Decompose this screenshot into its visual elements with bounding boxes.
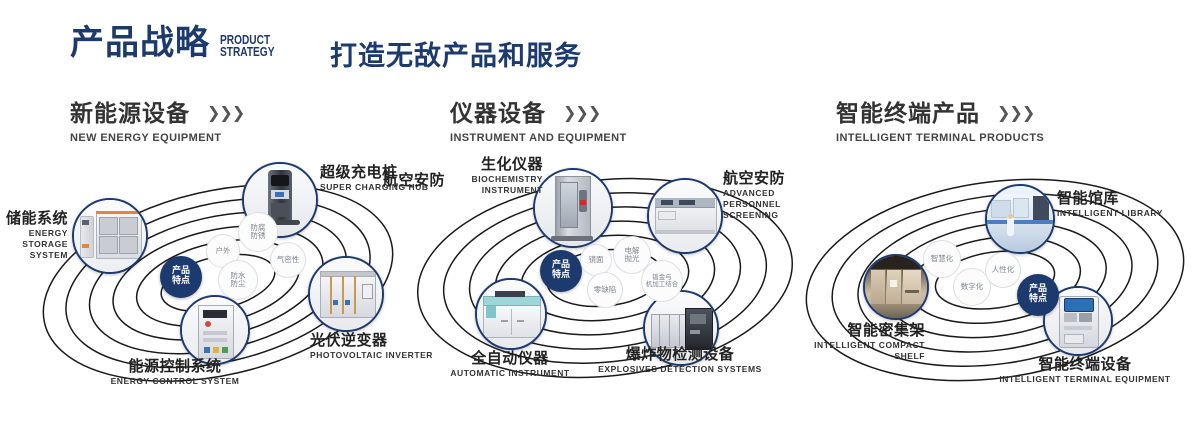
label-cn: 生化仪器: [435, 156, 543, 173]
page-title-en-line2: STRATEGY: [220, 46, 274, 58]
node-personnel-screening[interactable]: [647, 178, 723, 254]
bubble-feature-smart: 智慧化: [923, 240, 961, 278]
label-energy-control: 能源控制系统 ENERGY CONTROL SYSTEM: [60, 358, 290, 387]
bubble-line2: 机加工结合: [646, 281, 679, 288]
hero-title-block: 产品战略 PRODUCT STRATEGY: [70, 26, 290, 60]
bubble-line1: 数字化: [961, 283, 984, 291]
bubble-line2: 特点: [1029, 295, 1047, 305]
biochem-analyzer-art: [535, 170, 611, 246]
section-title-cn: 新能源设备 ❯❯❯: [70, 94, 244, 128]
section-title-cn: 智能终端产品 ❯❯❯: [836, 94, 1044, 128]
bubble-line1: 零缺陷: [594, 286, 617, 294]
section-title-new-energy: 新能源设备 ❯❯❯ NEW ENERGY EQUIPMENT: [70, 94, 244, 144]
label-cn: 储能系统: [0, 210, 68, 227]
label-energy-storage: 储能系统 ENERGY STORAGE SYSTEM: [0, 210, 68, 260]
node-energy-control[interactable]: [180, 295, 250, 365]
bubble-feature-sheetmetal-machining: 钣金与 机加工结合: [641, 260, 683, 302]
compact-shelf-art: [865, 256, 927, 318]
section-title-cn-text: 仪器设备: [450, 101, 546, 127]
bubble-feature-humanized: 人性化: [985, 252, 1021, 288]
section-title-cn-text: 智能终端产品: [836, 101, 980, 127]
node-intelligent-library[interactable]: [985, 184, 1055, 254]
node-compact-shelf[interactable]: [863, 254, 929, 320]
node-energy-storage[interactable]: [72, 198, 148, 274]
bubble-line1: 镜面: [589, 256, 604, 264]
chevron-right-icons: ❯❯❯: [563, 103, 600, 122]
label-en: ENERGY STORAGE SYSTEM: [0, 228, 68, 260]
bubble-feature-airtight: 气密性: [270, 242, 306, 278]
node-biochem-instrument[interactable]: [533, 168, 613, 248]
orbit-group-intelligent-terminal: 智能馆库 INTELLIGENT LIBRARY 智能密集架 INTELLIGE…: [795, 150, 1195, 410]
section-title-cn-text: 新能源设备: [70, 101, 190, 127]
label-cn: 智能馆库: [1057, 190, 1163, 207]
bubble-feature-waterproof: 防水 防尘: [218, 260, 258, 300]
screening-machine-art: [649, 180, 721, 252]
label-cn: 智能密集架: [803, 322, 925, 339]
node-pv-inverter[interactable]: [308, 256, 384, 332]
label-en: INTELLIGENT COMPACT SHELF: [803, 340, 925, 361]
label-automatic-instrument: 全自动仪器 AUTOMATIC INSTRUMENT: [425, 350, 595, 379]
label-explosives-detection: 爆炸物检测设备 EXPLOSIVES DETECTION SYSTEMS: [595, 346, 765, 375]
bubble-product-features: 产品 特点: [160, 256, 202, 298]
bubble-product-features: 产品 特点: [540, 250, 582, 292]
pv-inverter-cabinet-art: [310, 258, 382, 330]
label-en: INTELLIGENT LIBRARY: [1057, 208, 1163, 219]
label-en: INTELLIGENT TERMINAL EQUIPMENT: [995, 374, 1175, 385]
label-cn: 全自动仪器: [425, 350, 595, 367]
page-subtitle: 打造无敌产品和服务: [330, 34, 582, 73]
label-cn: 爆炸物检测设备: [595, 346, 765, 363]
orbit-group-instrument: 生化仪器 BIOCHEMISTRY INSTRUMENT 航空安防 航空安防 A…: [405, 150, 805, 410]
label-aviation-security-left: 航空安防: [353, 172, 445, 189]
bubble-line2: 防尘: [231, 280, 246, 288]
chevron-right-icons: ❯❯❯: [207, 103, 244, 122]
bubble-product-features: 产品 特点: [1017, 274, 1059, 316]
bubble-line1: 气密性: [277, 256, 300, 264]
page-title-en: PRODUCT STRATEGY: [220, 34, 274, 58]
bubble-line1: 人性化: [992, 266, 1015, 274]
chevron-right-icons: ❯❯❯: [997, 103, 1034, 122]
bubble-line2: 抛光: [625, 255, 640, 263]
product-strategy-infographic: 产品战略 PRODUCT STRATEGY 打造无敌产品和服务 新能源设备 ❯❯…: [0, 0, 1200, 422]
node-automatic-instrument[interactable]: [475, 278, 547, 350]
bubble-line1: 智慧化: [931, 255, 954, 263]
library-interior-art: [987, 186, 1053, 252]
label-biochem-instrument: 生化仪器 BIOCHEMISTRY INSTRUMENT: [435, 156, 543, 196]
label-intelligent-library: 智能馆库 INTELLIGENT LIBRARY: [1057, 190, 1163, 219]
bubble-line2: 特点: [552, 271, 570, 281]
label-cn: 能源控制系统: [60, 358, 290, 375]
section-title-en: INTELLIGENT TERMINAL PRODUCTS: [836, 132, 1044, 144]
bubble-line2: 防锈: [251, 232, 266, 240]
automatic-instrument-art: [477, 280, 545, 348]
section-title-en: INSTRUMENT AND EQUIPMENT: [450, 132, 627, 144]
control-cabinet-art: [182, 297, 248, 363]
bubble-feature-anticorrosion: 防腐 防锈: [238, 212, 278, 252]
page-title: 产品战略: [70, 26, 210, 60]
label-en: EXPLOSIVES DETECTION SYSTEMS: [595, 364, 765, 375]
label-cn: 智能终端设备: [995, 356, 1175, 373]
section-title-cn: 仪器设备 ❯❯❯: [450, 94, 627, 128]
section-title-intelligent-terminal: 智能终端产品 ❯❯❯ INTELLIGENT TERMINAL PRODUCTS: [836, 94, 1044, 144]
section-title-en: NEW ENERGY EQUIPMENT: [70, 132, 244, 144]
bubble-feature-zero-defect: 零缺陷: [587, 272, 623, 308]
energy-storage-cabinet-art: [74, 200, 146, 272]
label-en: ENERGY CONTROL SYSTEM: [60, 376, 290, 387]
bubble-line2: 特点: [172, 277, 190, 287]
bubble-line1: 户外: [216, 247, 231, 255]
label-compact-shelf: 智能密集架 INTELLIGENT COMPACT SHELF: [803, 322, 925, 362]
label-cn: 航空安防: [353, 172, 445, 189]
section-title-instrument: 仪器设备 ❯❯❯ INSTRUMENT AND EQUIPMENT: [450, 94, 627, 144]
label-en: BIOCHEMISTRY INSTRUMENT: [435, 174, 543, 195]
label-en: AUTOMATIC INSTRUMENT: [425, 368, 595, 379]
label-terminal-kiosk: 智能终端设备 INTELLIGENT TERMINAL EQUIPMENT: [995, 356, 1175, 385]
